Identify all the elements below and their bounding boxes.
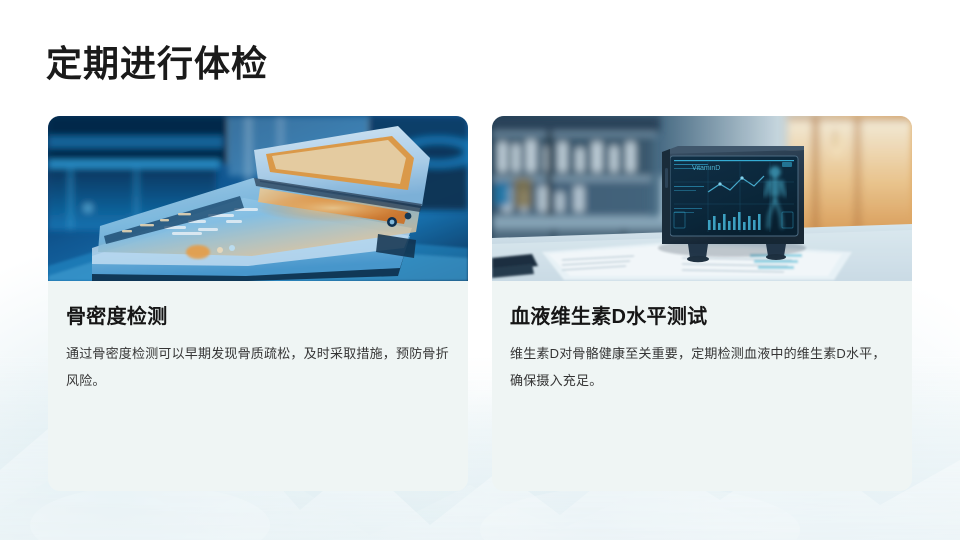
- card-body: 血液维生素D水平测试 维生素D对骨骼健康至关重要，定期检测血液中的维生素D水平，…: [492, 281, 912, 394]
- card-description: 通过骨密度检测可以早期发现骨质疏松，及时采取措施，预防骨折风险。: [66, 340, 450, 394]
- card-description: 维生素D对骨骼健康至关重要，定期检测血液中的维生素D水平，确保摄入充足。: [510, 340, 894, 394]
- card-heading: 血液维生素D水平测试: [510, 303, 894, 331]
- content-card[interactable]: VitaminD: [492, 116, 912, 491]
- card-body: 骨密度检测 通过骨密度检测可以早期发现骨质疏松，及时采取措施，预防骨折风险。: [48, 281, 468, 394]
- lab-monitor-skeleton-photo: VitaminD: [492, 116, 912, 281]
- bone-density-scanner-photo: [48, 116, 468, 281]
- card-heading: 骨密度检测: [66, 303, 450, 331]
- page-title: 定期进行体检: [46, 41, 268, 86]
- content-card[interactable]: 骨密度检测 通过骨密度检测可以早期发现骨质疏松，及时采取措施，预防骨折风险。: [48, 116, 468, 491]
